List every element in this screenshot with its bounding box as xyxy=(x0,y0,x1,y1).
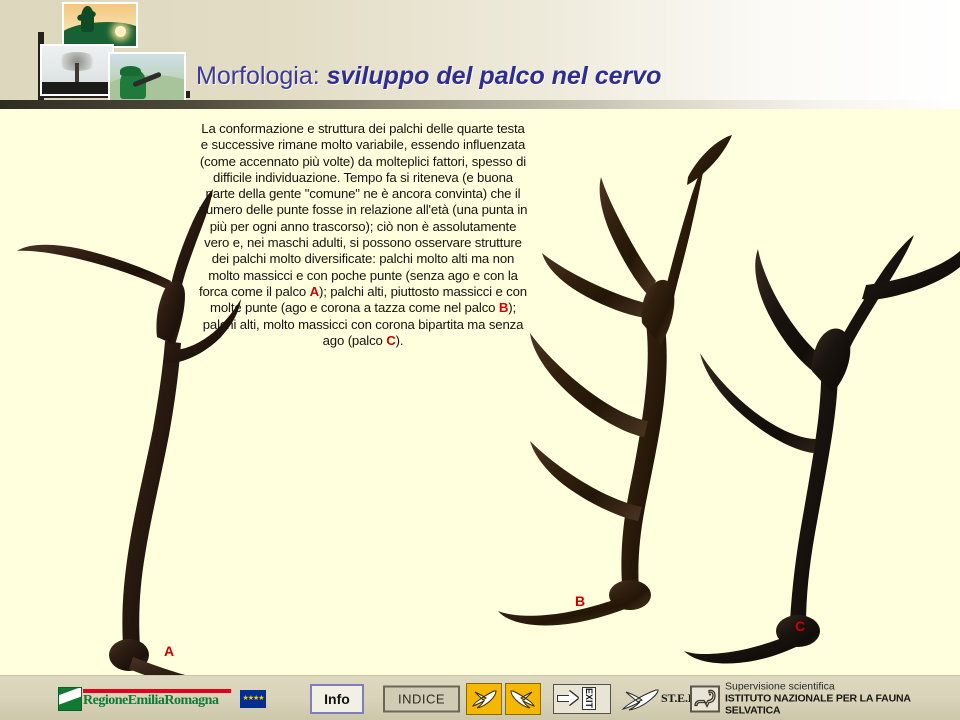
supervision-text: Supervisione scientifica ISTITUTO NAZION… xyxy=(725,681,960,716)
page-title-subject: sviluppo del palco nel cervo xyxy=(327,62,662,90)
exit-label: EXIT xyxy=(582,687,596,709)
next-slide-button[interactable] xyxy=(505,683,541,715)
thumbnail-winter-tree xyxy=(40,44,114,96)
mouflon-glyph xyxy=(692,687,718,710)
body-paragraph: La conformazione e struttura dei palchi … xyxy=(198,121,528,349)
supervision-line-1: Supervisione scientifica xyxy=(725,681,960,692)
figure-label-a: A xyxy=(164,643,174,659)
tree-trunk xyxy=(75,63,79,82)
eu-stars: ★★★★ xyxy=(240,690,266,708)
thumbnail-hunter-binoculars xyxy=(108,52,186,102)
slide-header: Morfologia: sviluppo del palco nel cervo xyxy=(0,0,960,100)
hunter-hat xyxy=(120,66,141,76)
infs-logo-block: Supervisione scientifica ISTITUTO NAZION… xyxy=(690,681,960,716)
info-button[interactable]: Info xyxy=(310,684,364,714)
previous-slide-button[interactable] xyxy=(466,683,502,715)
region-flag-icon xyxy=(58,687,82,711)
page-title: Morfologia: sviluppo del palco nel cervo xyxy=(196,62,661,91)
region-wordmark: RegioneEmiliaRomagna xyxy=(83,689,231,708)
bird-left-icon xyxy=(471,688,497,710)
arrow-right-icon xyxy=(557,692,581,705)
sun-icon xyxy=(115,26,126,37)
thumbnail-hunter-sunset xyxy=(62,2,138,48)
bird-right-icon xyxy=(510,688,536,710)
indice-button[interactable]: INDICE xyxy=(383,685,460,712)
region-red-bar xyxy=(83,689,231,693)
sterna-bird-icon xyxy=(620,687,660,711)
figure-label-c: C xyxy=(795,618,805,634)
slide-content: La conformazione e struttura dei palchi … xyxy=(0,109,960,675)
region-emilia-romagna-logo: RegioneEmiliaRomagna xyxy=(58,687,231,711)
figure-label-b: B xyxy=(575,593,585,609)
page-title-prefix: Morfologia: xyxy=(196,62,327,90)
header-divider xyxy=(0,100,960,109)
mouflon-icon xyxy=(690,685,720,712)
ground-strip xyxy=(42,82,112,94)
eu-flag-icon: ★★★★ xyxy=(240,690,266,708)
slide-root: Morfologia: sviluppo del palco nel cervo xyxy=(0,0,960,720)
region-name: RegioneEmiliaRomagna xyxy=(83,694,231,708)
exit-button[interactable]: EXIT xyxy=(553,684,611,714)
slide-footer: RegioneEmiliaRomagna ★★★★ Info INDICE EX… xyxy=(0,675,960,720)
hunter-silhouette xyxy=(81,6,94,32)
supervision-line-2: ISTITUTO NAZIONALE PER LA FAUNA SELVATIC… xyxy=(725,692,960,716)
